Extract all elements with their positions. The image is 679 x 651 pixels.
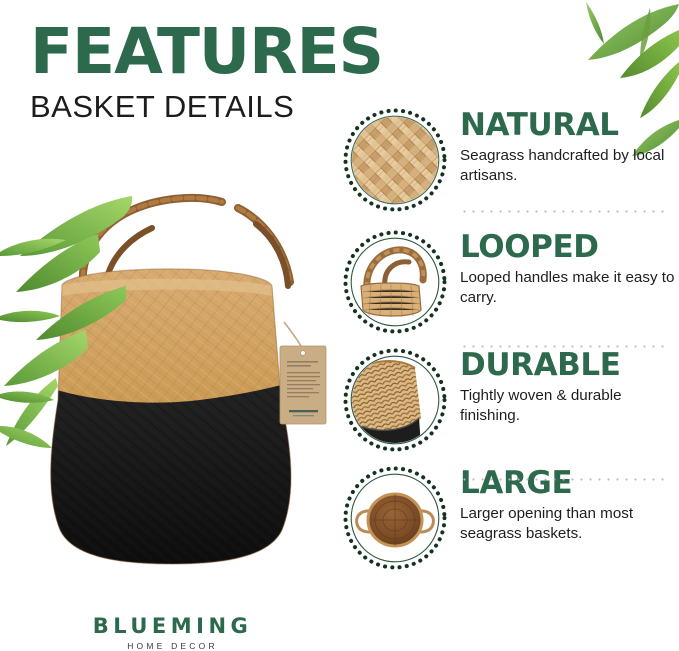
feature-description: Tightly woven & durable finishing. <box>460 386 675 426</box>
divider-looped-durable <box>460 345 670 348</box>
looped-handles-basket-thumb <box>341 228 449 336</box>
woven-seagrass-texture-thumb <box>341 106 449 214</box>
tight-weave-closeup-thumb <box>341 346 449 454</box>
page-title: FEATURES <box>30 22 460 82</box>
feature-description: Larger opening than most seagrass basket… <box>460 504 675 544</box>
feature-text-block: LOOPED Looped handles make it easy to ca… <box>460 232 675 308</box>
basket-body <box>40 260 310 570</box>
feature-row: DURABLE Tightly woven & durable finishin… <box>336 344 679 462</box>
basket-top-opening-thumb <box>341 464 449 572</box>
feature-description: Seagrass handcrafted by local artisans. <box>460 146 675 186</box>
feature-row: LOOPED Looped handles make it easy to ca… <box>336 226 679 344</box>
brand-logo: BLUEMING HOME DECOR <box>0 614 345 651</box>
feature-row: NATURAL Seagrass handcrafted by local ar… <box>336 104 679 226</box>
feature-text-block: NATURAL Seagrass handcrafted by local ar… <box>460 110 675 186</box>
divider-natural-looped <box>460 210 670 213</box>
brand-name: BLUEMING <box>0 614 345 638</box>
feature-title: LOOPED <box>460 232 675 264</box>
divider-durable-large <box>460 478 670 481</box>
feature-text-block: DURABLE Tightly woven & durable finishin… <box>460 350 675 426</box>
hang-tag <box>280 322 326 424</box>
infographic-page: FEATURES BASKET DETAILS <box>0 0 679 650</box>
feature-description: Looped handles make it easy to carry. <box>460 268 675 308</box>
feature-title: LARGE <box>460 468 675 500</box>
feature-title: DURABLE <box>460 350 675 382</box>
feature-title: NATURAL <box>460 110 675 142</box>
feature-list: NATURAL Seagrass handcrafted by local ar… <box>336 104 679 580</box>
product-image <box>0 150 345 570</box>
